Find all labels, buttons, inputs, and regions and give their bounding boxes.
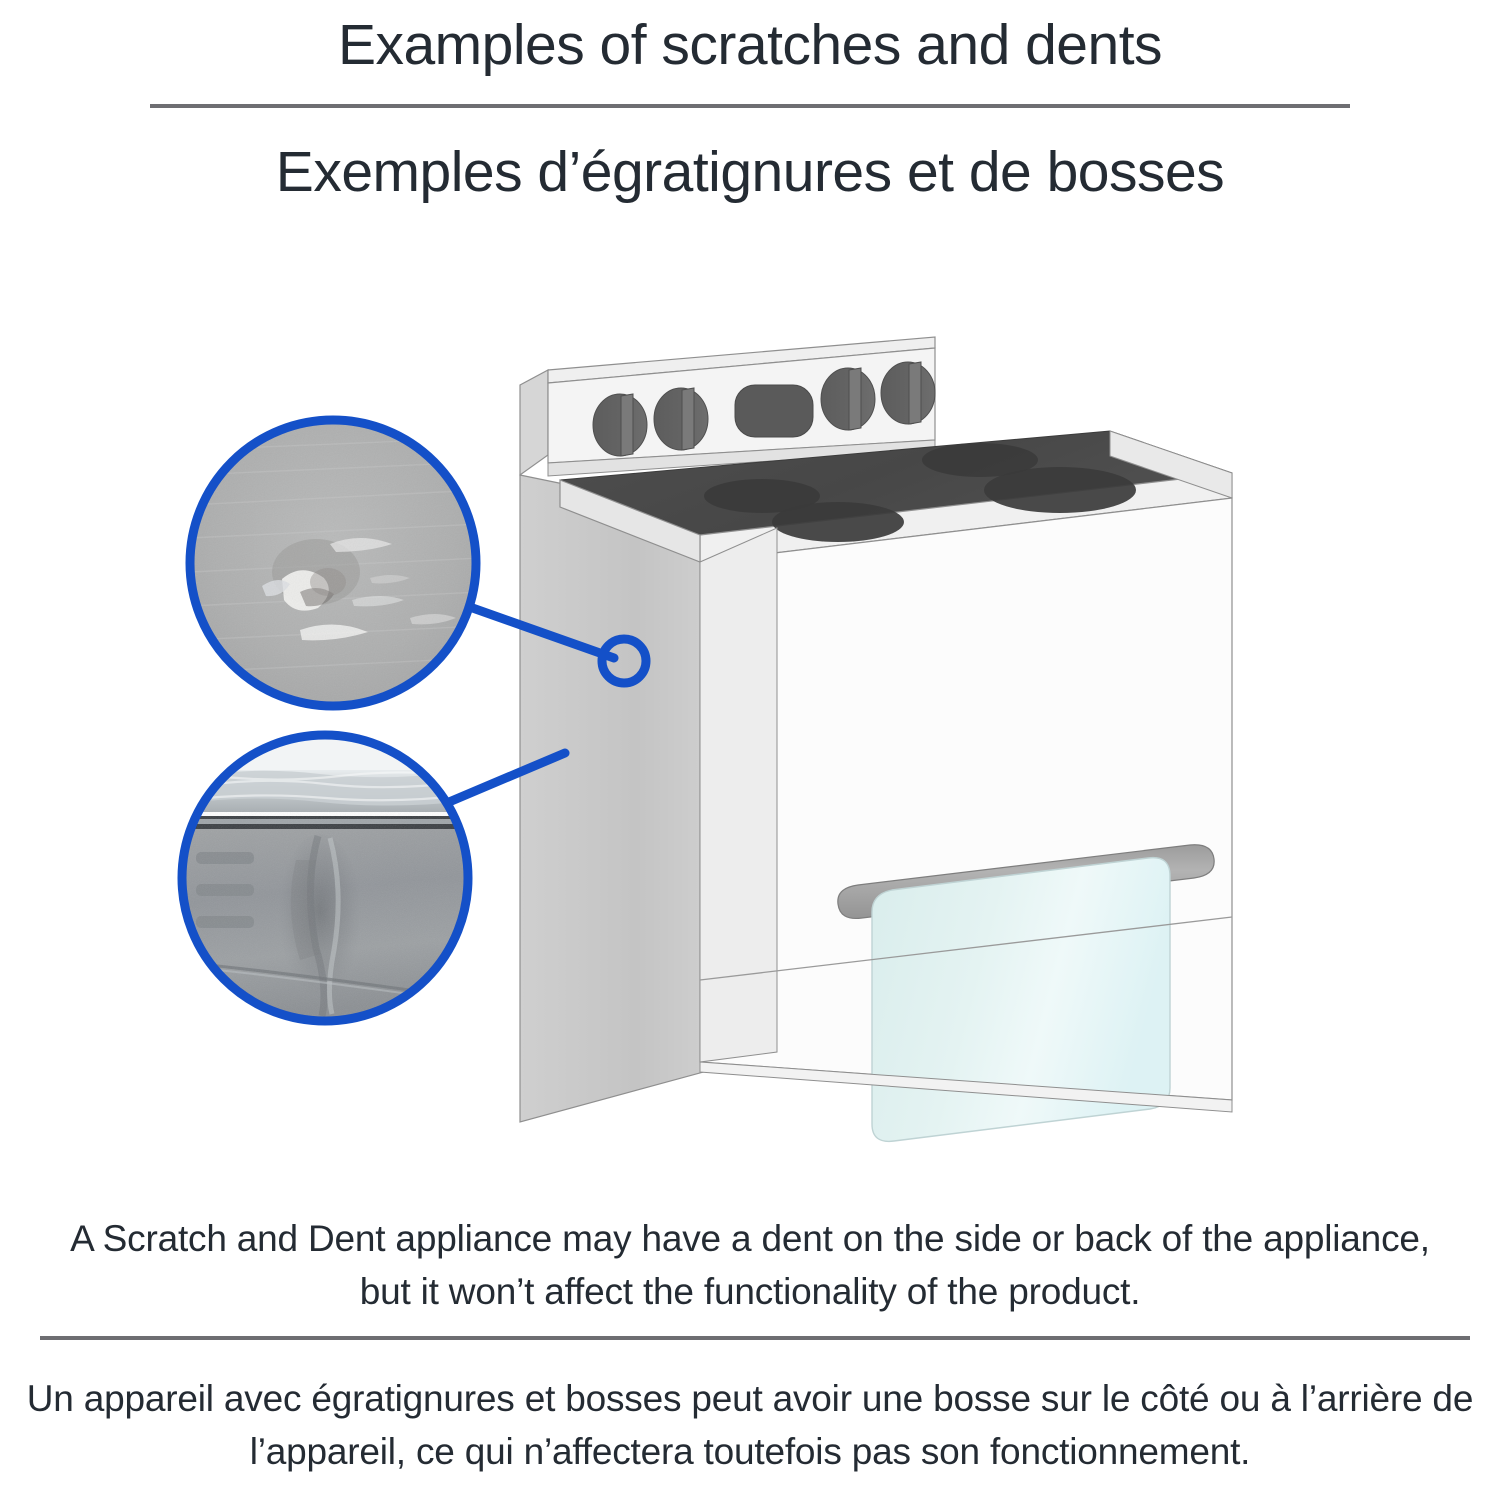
body-text-english: A Scratch and Dent appliance may have a … [40, 1212, 1460, 1318]
divider-top [150, 104, 1350, 108]
page-title-english: Examples of scratches and dents [0, 9, 1500, 81]
body-text-french: Un appareil avec égratignures et bosses … [20, 1372, 1480, 1478]
control-knob-2 [654, 388, 708, 450]
appliance-illustration [0, 300, 1500, 1180]
burner-front-left [772, 502, 904, 542]
control-knob-4 [821, 368, 875, 430]
scratch-closeup-callout [190, 420, 480, 710]
control-display-panel [735, 385, 813, 437]
oven-door-left-edge [700, 528, 777, 1062]
dent-closeup-callout [180, 730, 480, 1021]
stove-illustration [520, 337, 1232, 1141]
control-knob-1 [593, 394, 647, 456]
burner-front-right [984, 467, 1136, 513]
scratch-and-dent-infographic: Examples of scratches and dents Exemples… [0, 0, 1500, 1500]
divider-bottom [40, 1336, 1470, 1340]
control-knob-5 [881, 362, 935, 424]
page-title-french: Exemples d’égratignures et de bosses [0, 136, 1500, 208]
control-panel-left-side [520, 370, 548, 475]
